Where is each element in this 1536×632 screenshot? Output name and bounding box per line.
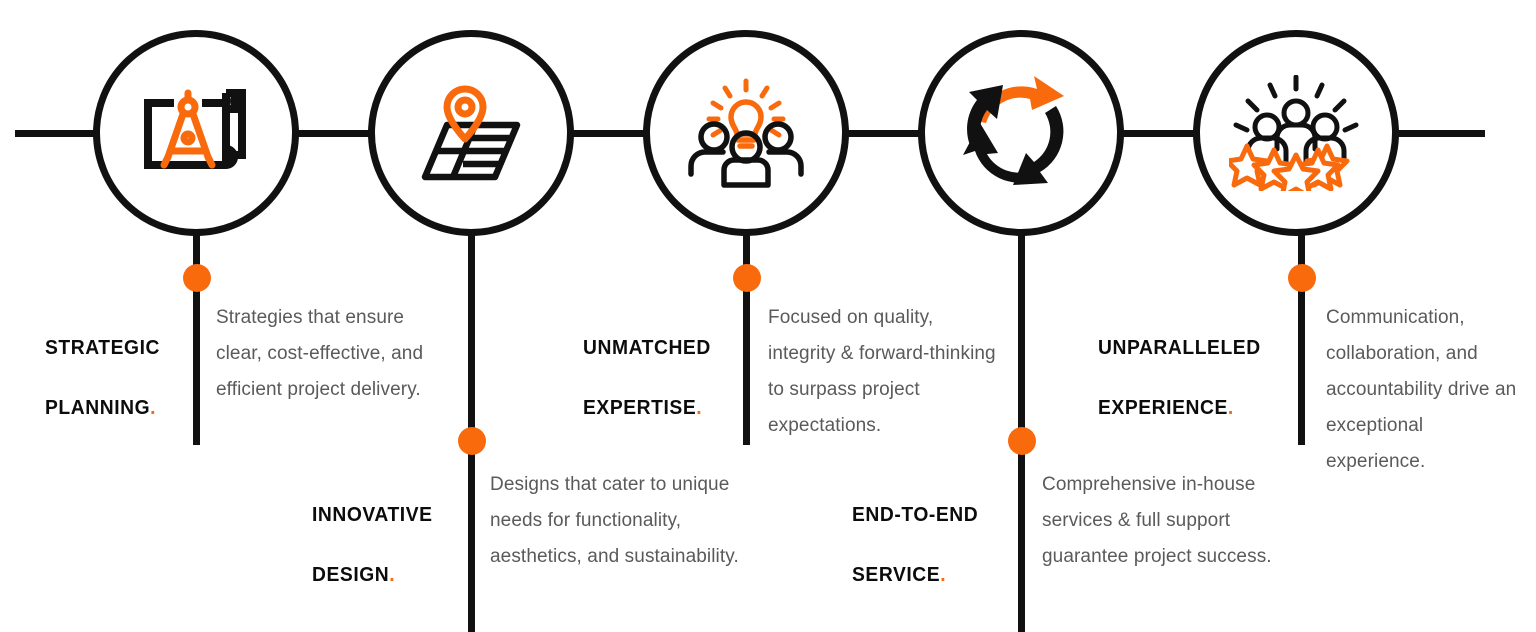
step-description-3: Focused on quality, integrity & forward-… (768, 300, 996, 444)
node-unparalleled-experience[interactable] (1193, 30, 1399, 236)
step-title-1-line1: STRATEGIC (45, 336, 160, 359)
marker-dot-3 (733, 264, 761, 292)
step-title-2-line2: DESIGN (312, 563, 389, 586)
step-title-4-period: . (940, 563, 946, 586)
infographic-canvas: STRATEGIC PLANNING. Strategies that ensu… (0, 0, 1536, 632)
node-strategic-planning[interactable] (93, 30, 299, 236)
step-title-5-period: . (1228, 396, 1234, 419)
marker-dot-1 (183, 264, 211, 292)
step-title-1: STRATEGIC PLANNING. (45, 303, 205, 423)
marker-dot-2 (458, 427, 486, 455)
team-five-stars-icon (1193, 30, 1399, 236)
step-title-5-line1: UNPARALLELED (1098, 336, 1261, 359)
step-description-1: Strategies that ensure clear, cost-effec… (216, 300, 448, 408)
marker-dot-5 (1288, 264, 1316, 292)
node-innovative-design[interactable] (368, 30, 574, 236)
step-description-5: Communication, collaboration, and accoun… (1326, 300, 1526, 480)
step-title-5: UNPARALLELED EXPERIENCE. (1098, 303, 1286, 423)
step-description-2: Designs that cater to unique needs for f… (490, 467, 740, 575)
step-description-4: Comprehensive in-house services & full s… (1042, 467, 1280, 575)
blueprint-compass-icon (93, 30, 299, 236)
step-title-4: END-TO-END SERVICE. (852, 470, 1021, 590)
step-title-3-line1: UNMATCHED (583, 336, 711, 359)
step-title-3: UNMATCHED EXPERTISE. (583, 303, 752, 423)
step-title-2-line1: INNOVATIVE (312, 503, 433, 526)
marker-dot-4 (1008, 427, 1036, 455)
step-title-1-line2: PLANNING (45, 396, 150, 419)
node-unmatched-expertise[interactable] (643, 30, 849, 236)
step-title-2-period: . (389, 563, 395, 586)
step-title-4-line2: SERVICE (852, 563, 940, 586)
step-title-3-line2: EXPERTISE (583, 396, 696, 419)
step-title-3-period: . (696, 396, 702, 419)
stem-5 (1298, 230, 1305, 445)
step-title-4-line1: END-TO-END (852, 503, 978, 526)
step-title-5-line2: EXPERIENCE (1098, 396, 1228, 419)
step-title-1-period: . (150, 396, 156, 419)
node-end-to-end-service[interactable] (918, 30, 1124, 236)
cycle-arrows-icon (918, 30, 1124, 236)
step-title-2: INNOVATIVE DESIGN. (312, 470, 477, 590)
site-plan-pin-icon (368, 30, 574, 236)
team-lightbulb-icon (643, 30, 849, 236)
